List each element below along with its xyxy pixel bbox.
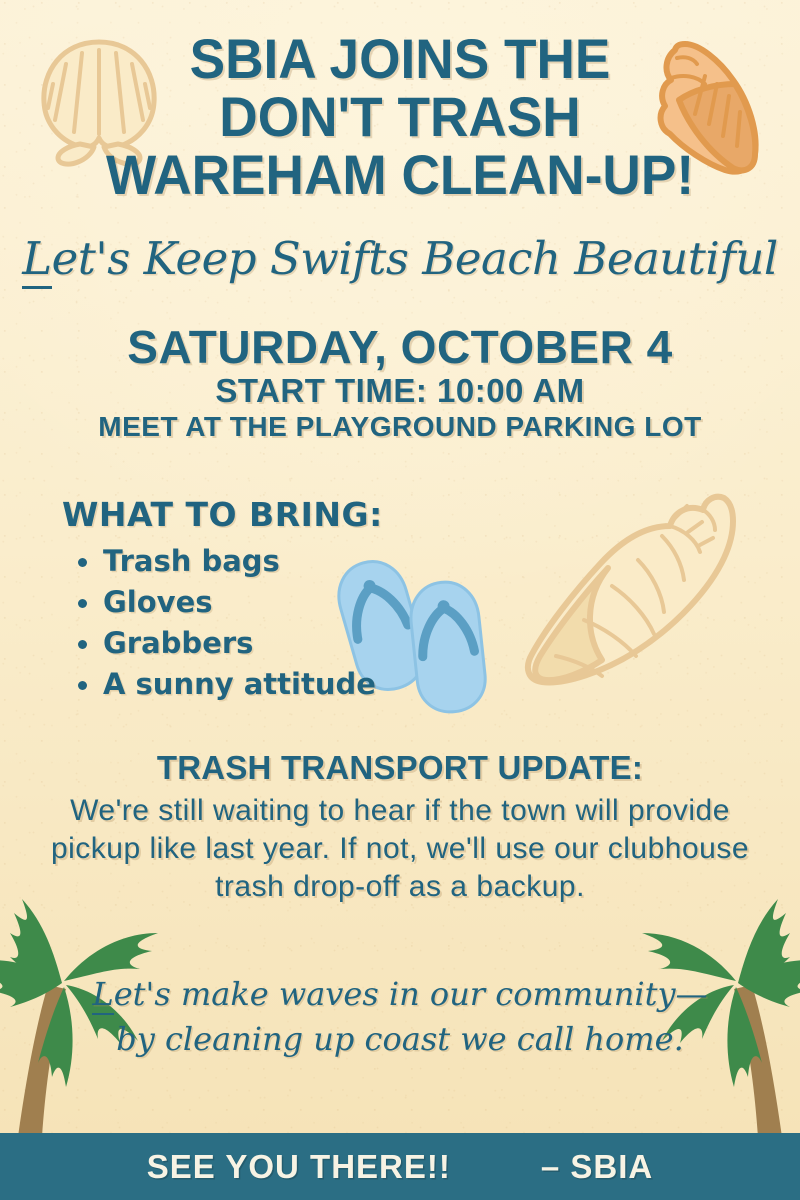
headline-line-2: DON'T TRASH — [20, 88, 780, 146]
update-heading: TRASH TRANSPORT UPDATE: — [50, 748, 750, 788]
event-location: MEET AT THE PLAYGROUND PARKING LOT — [0, 410, 800, 444]
closing-text: et's make waves in our community—by clea… — [114, 975, 708, 1058]
what-to-bring-heading: WHAT TO BRING: — [62, 495, 383, 535]
footer-signature: – SBIA — [541, 1148, 653, 1186]
list-item: Grabbers — [76, 623, 383, 664]
flyer-poster: SBIA JOINS THE DON'T TRASH WAREHAM CLEAN… — [0, 0, 800, 1200]
update-body: We're still waiting to hear if the town … — [50, 792, 750, 906]
headline-line-1: SBIA JOINS THE — [20, 30, 780, 88]
trash-transport-update-section: TRASH TRANSPORT UPDATE: We're still wait… — [50, 748, 750, 906]
footer-bar: SEE YOU THERE!! – SBIA — [0, 1133, 800, 1200]
subtitle: Let's Keep Swifts Beach Beautiful — [0, 233, 800, 285]
what-to-bring-list: Trash bags Gloves Grabbers A sunny attit… — [62, 541, 383, 705]
subtitle-initial: L — [22, 232, 51, 289]
event-start-time: START TIME: 10:00 AM — [0, 372, 800, 410]
headline-line-3: WAREHAM CLEAN-UP! — [20, 146, 780, 204]
list-item: Trash bags — [76, 541, 383, 582]
list-item: A sunny attitude — [76, 664, 383, 705]
closing-message: Let's make waves in our community—by cle… — [90, 972, 710, 1062]
list-item: Gloves — [76, 582, 383, 623]
closing-initial: L — [92, 975, 113, 1015]
footer-message: SEE YOU THERE!! — [147, 1148, 451, 1186]
what-to-bring-section: WHAT TO BRING: Trash bags Gloves Grabber… — [62, 495, 383, 705]
page-title: SBIA JOINS THE DON'T TRASH WAREHAM CLEAN… — [20, 30, 780, 204]
event-details: SATURDAY, OCTOBER 4 START TIME: 10:00 AM… — [0, 322, 800, 444]
subtitle-text: et's Keep Swifts Beach Beautiful — [52, 232, 778, 285]
event-date: SATURDAY, OCTOBER 4 — [0, 322, 800, 372]
